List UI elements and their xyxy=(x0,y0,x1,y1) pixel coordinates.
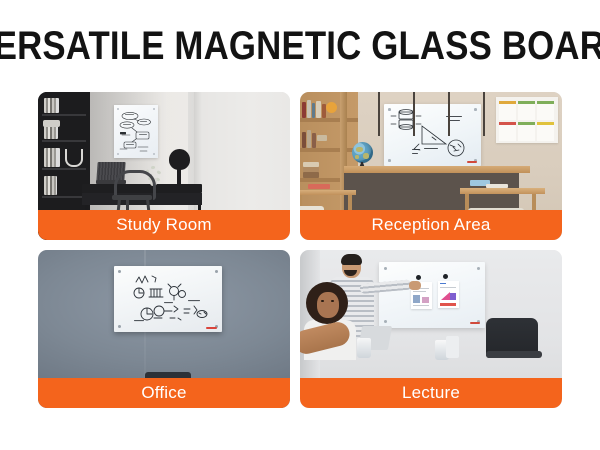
panel-office[interactable]: Office xyxy=(38,250,290,408)
panel-label-lecture: Lecture xyxy=(402,384,460,402)
board-sketch-icon xyxy=(114,266,222,332)
panel-lecture[interactable]: Lecture xyxy=(300,250,562,408)
globe-icon xyxy=(352,142,373,163)
page-title: VERSATILE MAGNETIC GLASS BOARD xyxy=(0,24,600,68)
glass-board-icon xyxy=(114,266,222,332)
panel-study-room[interactable]: Study Room xyxy=(38,92,290,240)
decor-ball-icon xyxy=(326,102,337,113)
page-title-container: VERSATILE MAGNETIC GLASS BOARD xyxy=(0,20,600,72)
glass-board-icon xyxy=(384,104,481,166)
panel-reception-area[interactable]: Reception Area xyxy=(300,92,562,240)
gallery-cell-reception-area: Reception Area xyxy=(300,92,562,250)
glass-board-icon xyxy=(114,105,158,158)
water-glass-icon xyxy=(357,338,371,358)
gallery-cell-office: Office xyxy=(38,250,300,408)
panel-label-band-lecture: Lecture xyxy=(300,378,562,408)
glass-board-icon xyxy=(379,262,485,328)
document-sheet-icon xyxy=(438,281,459,308)
napkin-icon xyxy=(446,336,459,358)
panel-label-band-study-room: Study Room xyxy=(38,210,290,240)
photo-lecture: Lecture xyxy=(300,250,562,408)
photo-reception-area: Reception Area xyxy=(300,92,562,240)
board-sketch-icon xyxy=(114,105,158,158)
board-sketch-icon xyxy=(384,104,481,166)
gallery-cell-lecture: Lecture xyxy=(300,250,562,408)
panel-label-study-room: Study Room xyxy=(116,216,212,234)
panel-label-band-reception-area: Reception Area xyxy=(300,210,562,240)
panel-label-band-office: Office xyxy=(38,378,290,408)
photo-study-room: Study Room xyxy=(38,92,290,240)
photo-office: Office xyxy=(38,250,290,408)
panel-label-reception-area: Reception Area xyxy=(371,216,490,234)
poster-root: VERSATILE MAGNETIC GLASS BOARD xyxy=(0,0,600,450)
gallery-cell-study-room: Study Room xyxy=(38,92,300,250)
panel-label-office: Office xyxy=(141,384,186,402)
wall-calendar-icon xyxy=(496,97,558,143)
feature-gallery-grid: Study Room xyxy=(38,92,562,408)
